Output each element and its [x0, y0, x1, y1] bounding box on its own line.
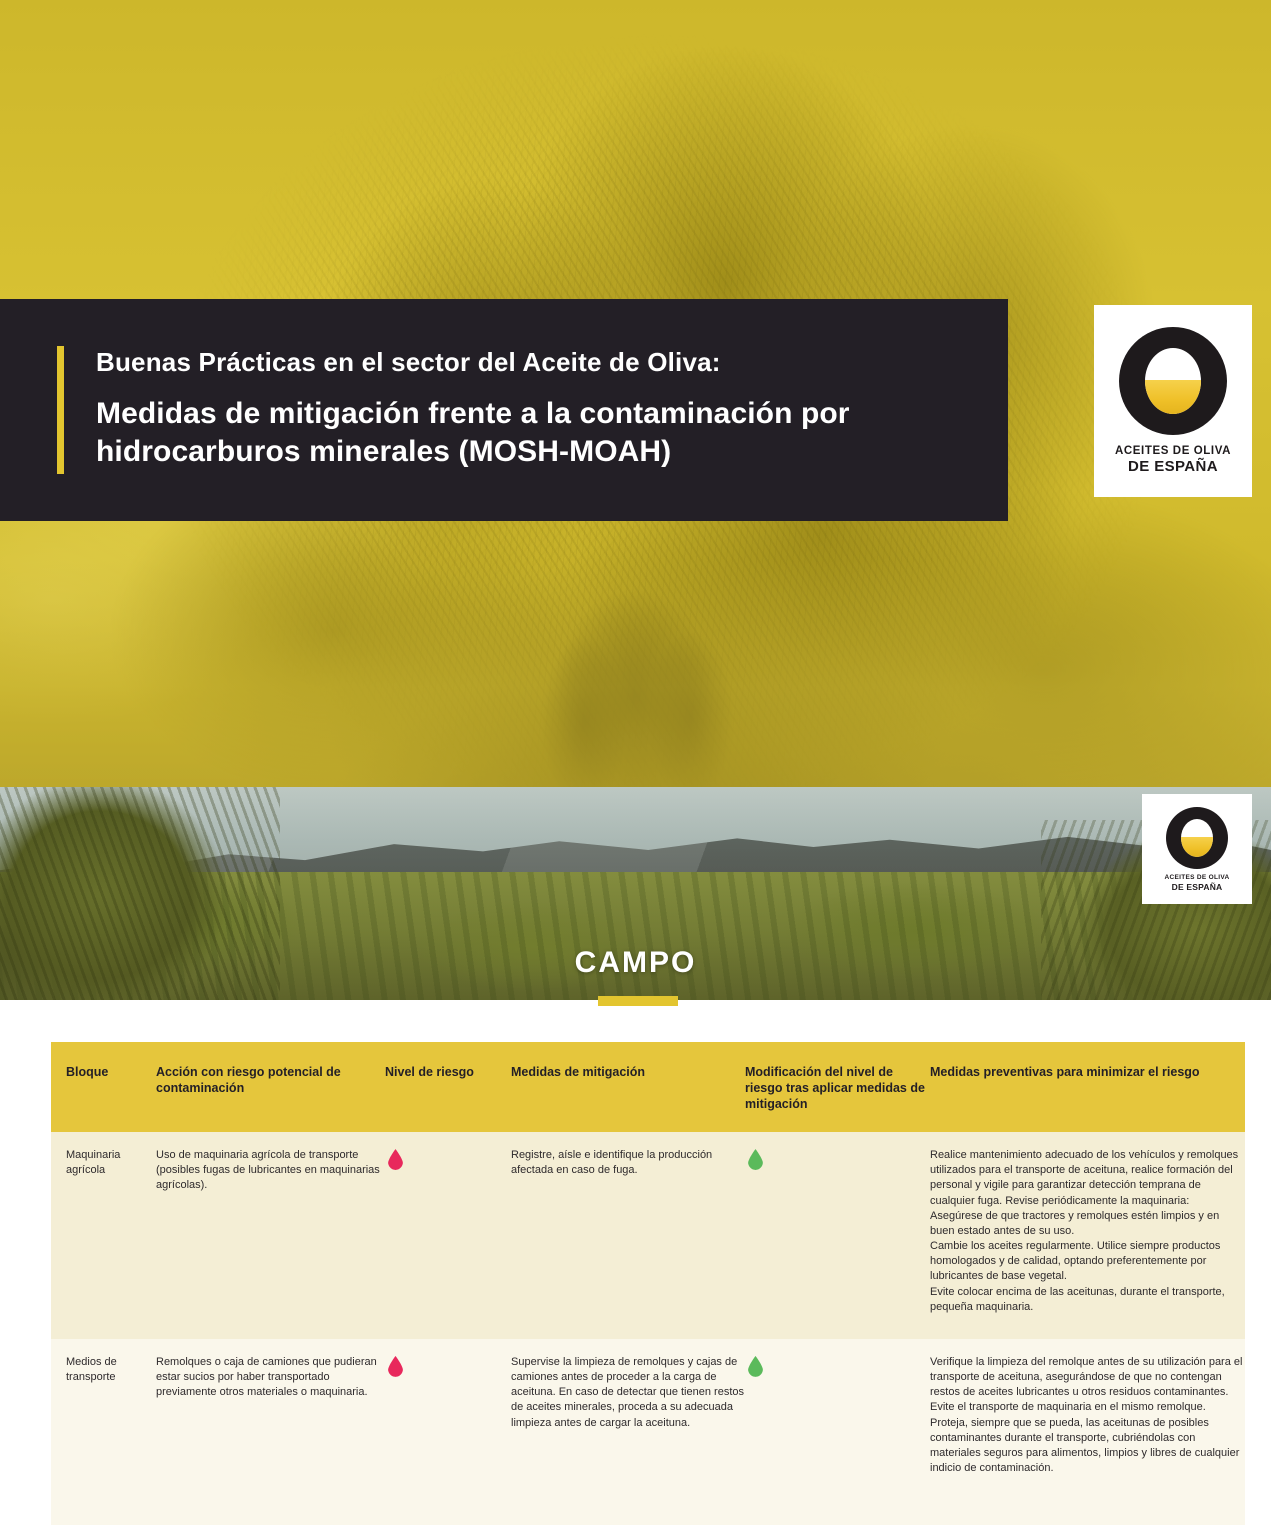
brand-logo-wordmark: ACEITES DE OLIVA DE ESPAÑA — [1115, 445, 1231, 475]
column-header-nivel: Nivel de riesgo — [385, 1042, 511, 1132]
brand-logo-line2: DE ESPAÑA — [1115, 458, 1231, 475]
oil-fill — [1181, 819, 1213, 857]
title-bar: Buenas Prácticas en el sector del Aceite… — [0, 299, 1008, 521]
table-row: Maquinaria agrícola Uso de maquinaria ag… — [51, 1132, 1245, 1339]
cell-medidas-preventivas: Realice mantenimiento adecuado de los ve… — [930, 1132, 1245, 1339]
oil-fill — [1145, 348, 1201, 414]
olive-oil-ring-icon — [1166, 807, 1228, 869]
cell-modificacion-riesgo — [745, 1132, 930, 1339]
hero-ground-haze — [0, 560, 1271, 790]
cell-medidas-preventivas: Verifique la limpieza del remolque antes… — [930, 1339, 1245, 1525]
brand-logo-line1: ACEITES DE OLIVA — [1165, 874, 1230, 881]
column-header-bloque: Bloque — [51, 1042, 156, 1132]
cell-modificacion-riesgo — [745, 1339, 930, 1525]
column-header-accion: Acción con riesgo potencial de contamina… — [156, 1042, 385, 1132]
title-text-group: Buenas Prácticas en el sector del Aceite… — [96, 348, 1008, 471]
table-header-row: Bloque Acción con riesgo potencial de co… — [51, 1042, 1245, 1132]
page-root: Buenas Prácticas en el sector del Aceite… — [0, 0, 1271, 1525]
brand-logo-top: ACEITES DE OLIVA DE ESPAÑA — [1094, 305, 1252, 497]
column-header-modificacion: Modificación del nivel de riesgo tras ap… — [745, 1042, 930, 1132]
olive-oil-ring-icon — [1119, 327, 1227, 435]
column-header-medidas: Medidas de mitigación — [511, 1042, 745, 1132]
cell-medidas-mitigacion: Supervise la limpieza de remolques y caj… — [511, 1339, 745, 1525]
cell-medidas-mitigacion: Registre, aísle e identifique la producc… — [511, 1132, 745, 1339]
risk-measures-table: Bloque Acción con riesgo potencial de co… — [51, 1042, 1245, 1525]
cell-accion: Uso de maquinaria agrícola de transporte… — [156, 1132, 385, 1339]
cell-nivel-riesgo — [385, 1132, 511, 1339]
column-header-preventivas: Medidas preventivas para minimizar el ri… — [930, 1042, 1245, 1132]
brand-logo-wordmark: ACEITES DE OLIVA DE ESPAÑA — [1165, 874, 1230, 892]
title-accent-bar — [57, 346, 64, 474]
cell-nivel-riesgo — [385, 1339, 511, 1525]
brand-logo-line1: ACEITES DE OLIVA — [1115, 445, 1231, 457]
cell-bloque: Medios de transporte — [51, 1339, 156, 1525]
page-eyebrow: Buenas Prácticas en el sector del Aceite… — [96, 348, 1008, 377]
table-row: Medios de transporte Remolques o caja de… — [51, 1339, 1245, 1525]
brand-logo-strip: ACEITES DE OLIVA DE ESPAÑA — [1142, 794, 1252, 904]
cell-accion: Remolques o caja de camiones que pudiera… — [156, 1339, 385, 1525]
section-banner-label: CAMPO — [0, 946, 1271, 980]
section-banner-underline — [598, 996, 678, 1006]
cell-bloque: Maquinaria agrícola — [51, 1132, 156, 1339]
page-title: Medidas de mitigación frente a la contam… — [96, 395, 1008, 472]
brand-logo-line2: DE ESPAÑA — [1165, 882, 1230, 892]
